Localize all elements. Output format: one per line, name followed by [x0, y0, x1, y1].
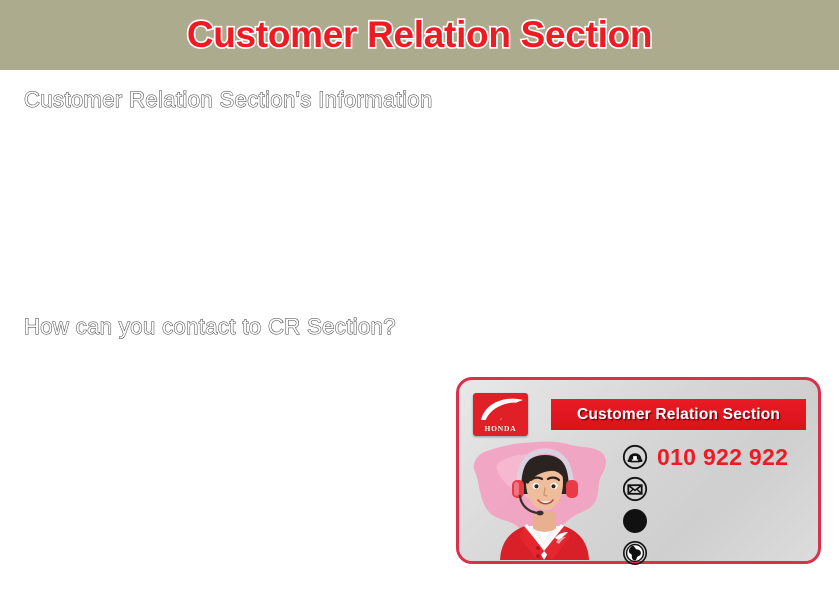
- card-banner-label: Customer Relation Section: [577, 406, 780, 424]
- phone-number: 010 922 922: [657, 444, 788, 471]
- section-heading-information: Customer Relation Section's Information: [24, 87, 433, 113]
- contact-row-email[interactable]: [622, 474, 818, 504]
- contact-row-phone[interactable]: 010 922 922: [622, 442, 818, 472]
- blob-icon: [622, 508, 648, 534]
- card-banner: Customer Relation Section: [551, 399, 806, 430]
- call-center-operator-illustration: [467, 438, 622, 560]
- honda-wing-logo: HONDA: [473, 393, 528, 436]
- contact-card: HONDA Customer Relation Section: [456, 377, 821, 564]
- contact-row-website[interactable]: [622, 538, 818, 568]
- globe-icon: [622, 540, 648, 566]
- honda-wordmark: HONDA: [473, 424, 528, 433]
- section-heading-contact: How can you contact to CR Section?: [24, 314, 396, 340]
- envelope-icon: [622, 476, 648, 502]
- phone-icon: [622, 444, 648, 470]
- contact-rows: 010 922 922: [622, 442, 818, 570]
- contact-row-blob[interactable]: [622, 506, 818, 536]
- page-title: Customer Relation Section: [0, 0, 839, 70]
